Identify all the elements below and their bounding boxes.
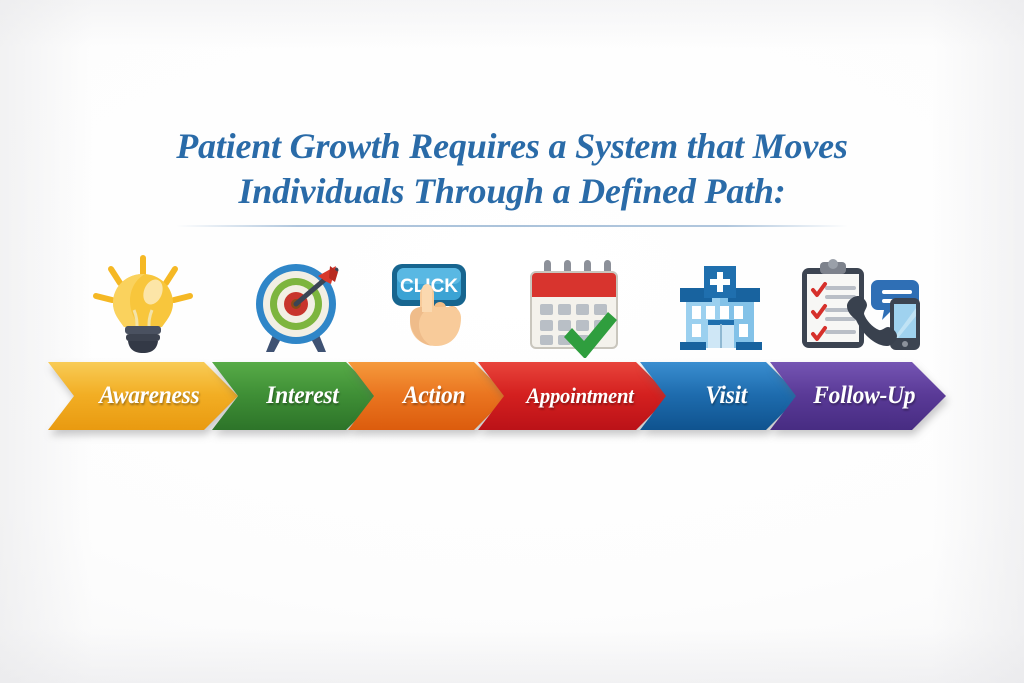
lightbulb-icon xyxy=(48,250,238,358)
flow-step-label: Interest xyxy=(266,382,338,410)
infographic-canvas: Patient Growth Requires a System that Mo… xyxy=(0,0,1024,683)
title-line-2: Individuals Through a Defined Path: xyxy=(0,169,1024,214)
flow-step-awareness[interactable]: Awareness xyxy=(48,250,238,450)
patient-journey-flow: Awareness I xyxy=(0,250,1024,450)
flow-step-label: Follow-Up xyxy=(813,382,915,410)
title-divider xyxy=(176,225,848,227)
title-line-1: Patient Growth Requires a System that Mo… xyxy=(0,124,1024,169)
flow-step-label: Action xyxy=(403,382,465,410)
clipboard-phone-icon xyxy=(770,250,946,358)
page-title: Patient Growth Requires a System that Mo… xyxy=(0,124,1024,214)
flow-step-label: Appointment xyxy=(526,383,633,409)
arrow-awareness[interactable]: Awareness xyxy=(48,362,238,430)
arrow-follow-up[interactable]: Follow-Up xyxy=(770,362,946,430)
flow-step-follow-up[interactable]: Follow-Up xyxy=(770,250,946,450)
flow-step-label: Awareness xyxy=(99,382,199,410)
flow-step-label: Visit xyxy=(705,382,747,410)
